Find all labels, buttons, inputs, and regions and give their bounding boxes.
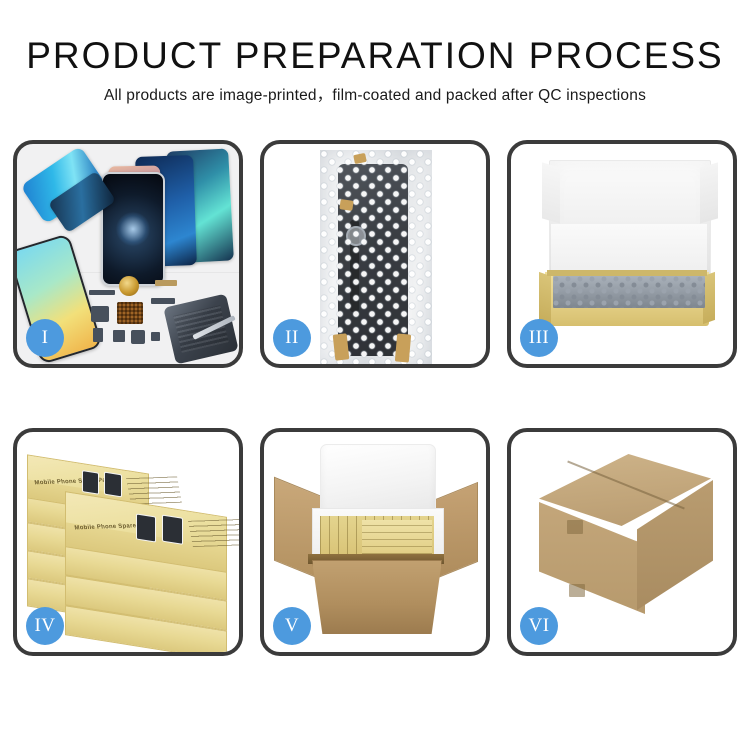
part-chip-icon: [113, 330, 125, 342]
bubble-wrap-bag: [320, 150, 432, 364]
bubble-texture: [320, 150, 432, 364]
process-step-1: I: [13, 140, 243, 368]
carton-body-icon: [312, 560, 442, 634]
step-badge-5: V: [273, 607, 311, 645]
process-step-grid: I II: [13, 140, 737, 688]
part-small-icon: [93, 328, 103, 342]
process-step-6: VI: [507, 428, 737, 656]
spec-text-block: [188, 519, 239, 547]
step-badge-2: II: [273, 319, 311, 357]
step-badge-4: IV: [26, 607, 64, 645]
speaker-coil-icon: [119, 276, 139, 296]
step-badge-6: VI: [520, 607, 558, 645]
part-button-icon: [151, 332, 160, 341]
part-camera-icon: [131, 330, 145, 344]
page-subtitle: All products are image-printed，film-coat…: [0, 86, 750, 106]
carton-tab-icon: [567, 520, 583, 534]
phone-backplate-icon: [163, 294, 238, 364]
part-block-icon: [91, 306, 109, 322]
tape-piece-icon: [395, 333, 411, 362]
process-step-5: V: [260, 428, 490, 656]
screen-print-icon: [82, 470, 99, 495]
product-preparation-infographic: PRODUCT PREPARATION PROCESS All products…: [0, 0, 750, 750]
step-badge-3: III: [520, 319, 558, 357]
header: PRODUCT PREPARATION PROCESS All products…: [0, 34, 750, 106]
part-strip-icon: [89, 290, 115, 295]
bubble-fill-icon: [553, 276, 705, 308]
process-step-2: II: [260, 140, 490, 368]
part-connector-icon: [155, 280, 177, 286]
carton-tab-icon: [569, 584, 585, 597]
spec-text-block: [126, 476, 182, 504]
chip-grid-icon: [117, 302, 143, 324]
screen-print-icon: [162, 515, 183, 545]
tape-piece-icon: [333, 333, 350, 360]
tape-piece-icon: [339, 199, 353, 211]
page-title: PRODUCT PREPARATION PROCESS: [0, 34, 750, 78]
screen-print-icon: [136, 513, 156, 542]
step-badge-1: I: [26, 319, 64, 357]
process-step-3: III: [507, 140, 737, 368]
process-step-4: Mobile Phone Spare Parts Mobile Phone Sp…: [13, 428, 243, 656]
part-flex-icon: [151, 298, 175, 304]
phone-display-icon: [101, 172, 165, 286]
screen-print-icon: [104, 472, 122, 498]
packed-boxes-right: [362, 520, 432, 554]
